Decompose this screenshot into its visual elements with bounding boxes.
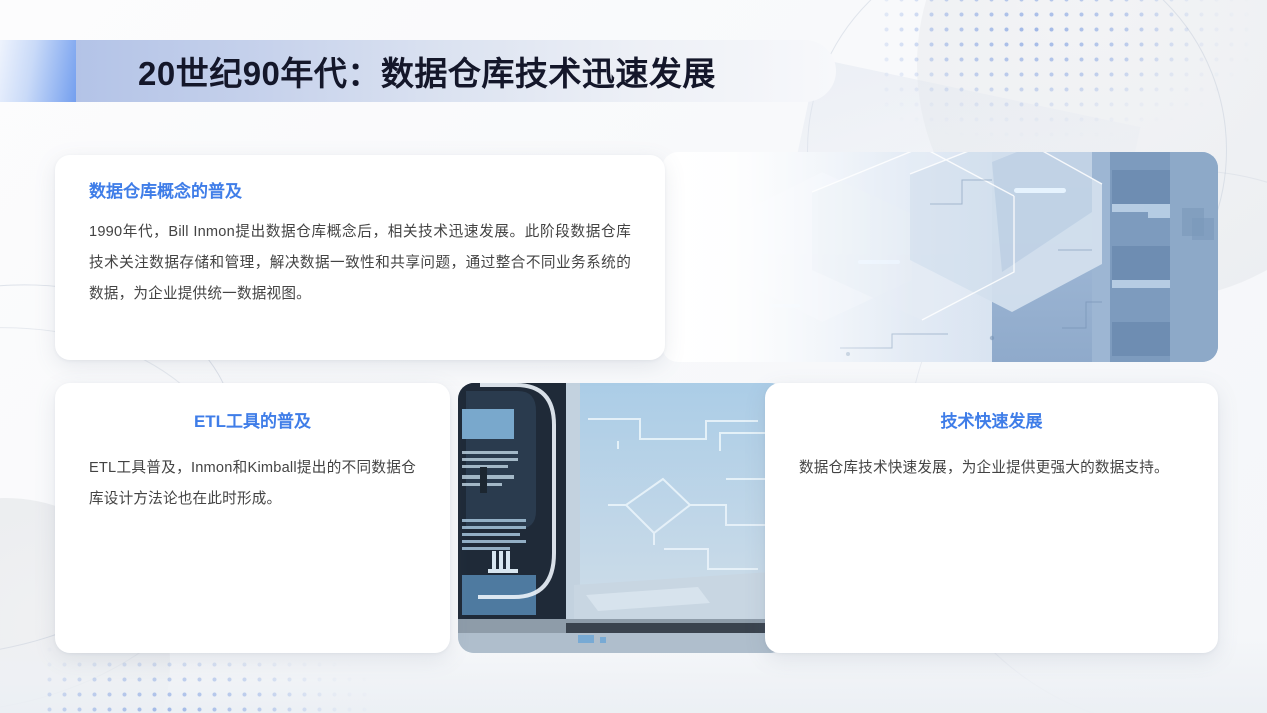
slide-canvas: 20世纪90年代：数据仓库技术迅速发展 [0, 0, 1267, 713]
futuristic-architecture-image [662, 152, 1218, 362]
tech-circuit-panel-image [458, 383, 786, 653]
content-card-data-warehouse-concept: 数据仓库概念的普及 1990年代，Bill Inmon提出数据仓库概念后，相关技… [55, 155, 665, 360]
card-title: ETL工具的普及 [89, 411, 416, 433]
dot-grid-pattern-top-right [879, 0, 1249, 147]
card-title: 数据仓库概念的普及 [89, 181, 631, 203]
card-body: 数据仓库技术快速发展，为企业提供更强大的数据支持。 [799, 453, 1184, 484]
card-title: 技术快速发展 [799, 411, 1184, 433]
slide-title-bar: 20世纪90年代：数据仓库技术迅速发展 [0, 40, 836, 102]
card-body: 1990年代，Bill Inmon提出数据仓库概念后，相关技术迅速发展。此阶段数… [89, 217, 631, 310]
page-title: 20世纪90年代：数据仓库技术迅速发展 [138, 47, 716, 95]
content-card-rapid-tech-development: 技术快速发展 数据仓库技术快速发展，为企业提供更强大的数据支持。 [765, 383, 1218, 653]
title-banner: 20世纪90年代：数据仓库技术迅速发展 [76, 40, 836, 102]
card-body: ETL工具普及，Inmon和Kimball提出的不同数据仓库设计方法论也在此时形… [89, 453, 416, 515]
content-card-etl-tools: ETL工具的普及 ETL工具普及，Inmon和Kimball提出的不同数据仓库设… [55, 383, 450, 653]
